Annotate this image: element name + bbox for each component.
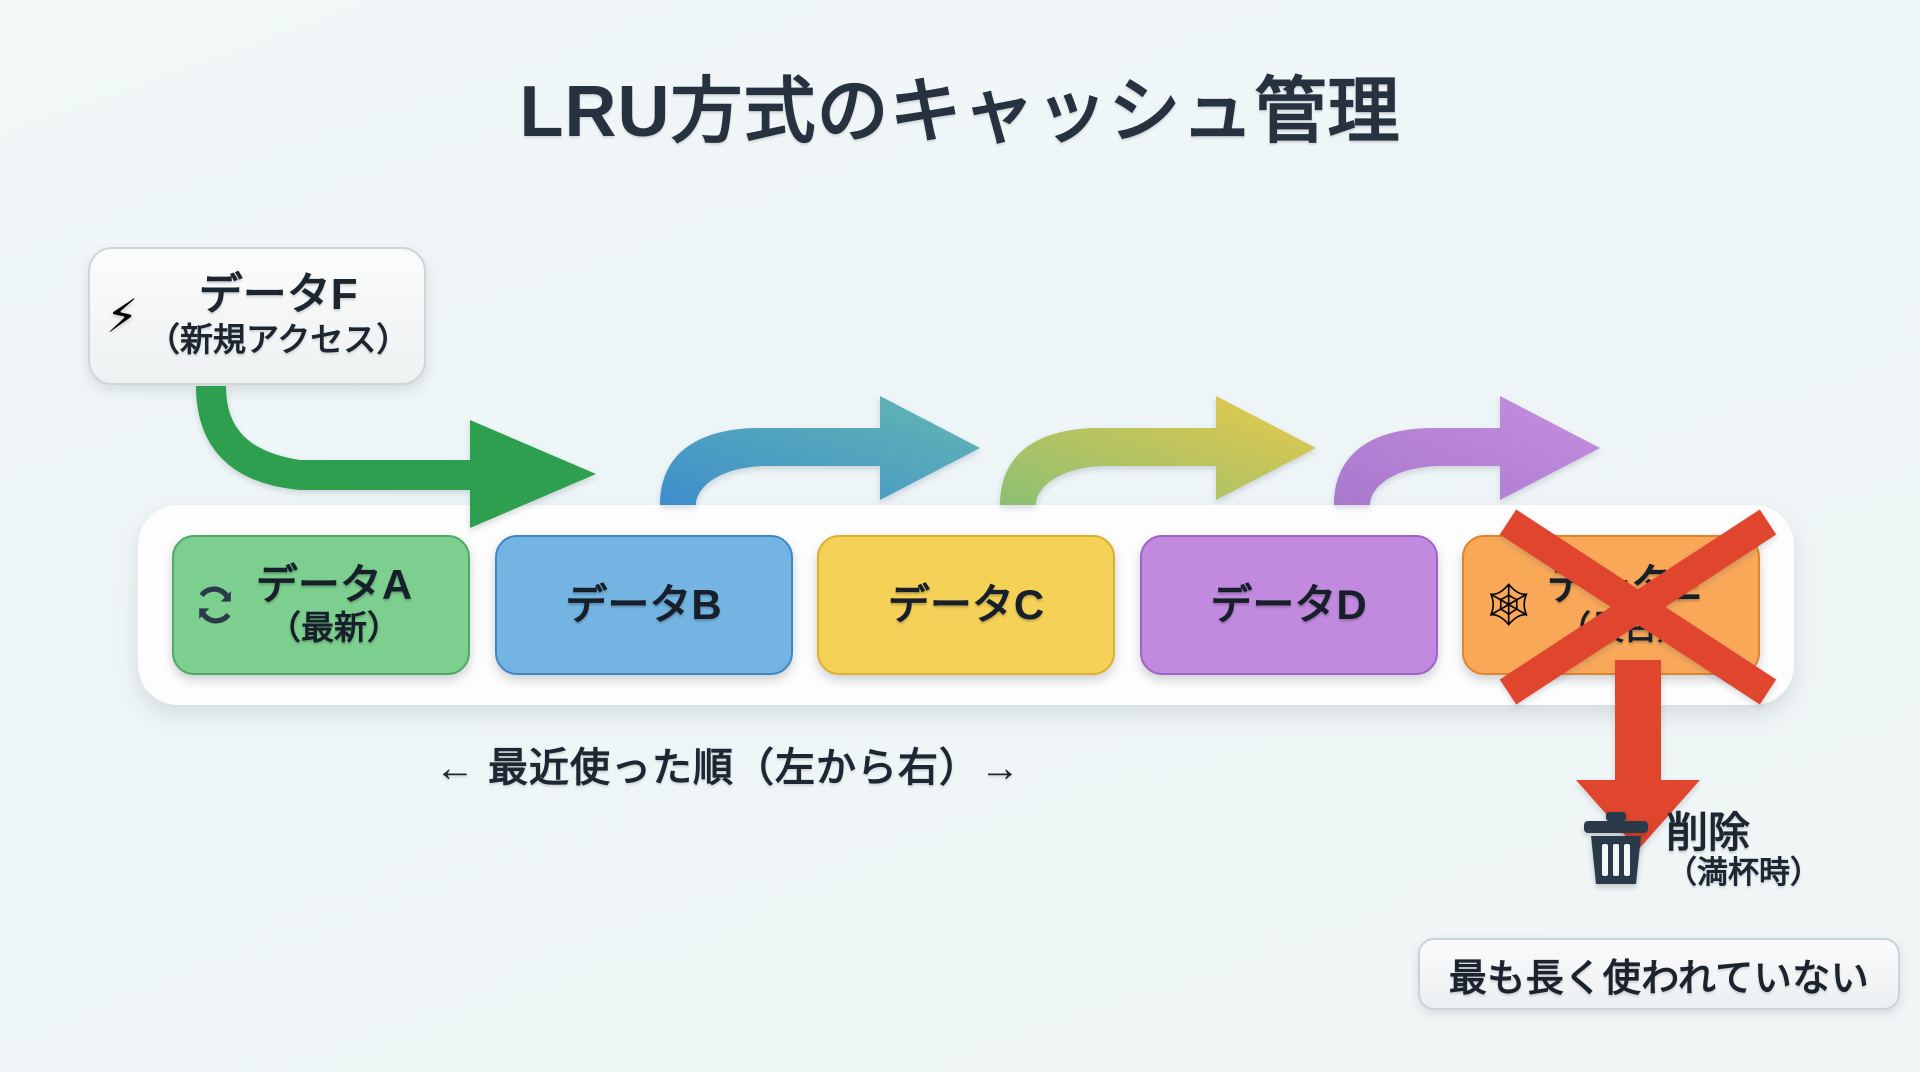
arrow-c-to-d [1334, 396, 1600, 505]
cache-item-d[interactable]: データD [1140, 535, 1438, 675]
refresh-cycle-icon [192, 582, 238, 628]
cache-item-a-sublabel: （最新） [256, 609, 412, 647]
delete-group: 削除 （満杯時） [1580, 808, 1821, 893]
cache-item-b-text: データB [565, 583, 721, 627]
trash-can-icon [1580, 808, 1652, 893]
cache-item-d-text: データD [1210, 583, 1366, 627]
arrow-b-to-c [1000, 396, 1316, 505]
cache-item-c-text: データC [888, 583, 1044, 627]
lru-badge: 最も長く使われていない [1418, 938, 1900, 1010]
delete-sublabel: （満杯時） [1666, 855, 1821, 891]
cache-item-b-label: データB [565, 583, 721, 627]
spider-web-icon: 🕸 [1482, 584, 1535, 626]
cache-item-list: データA （最新） データB データC データD 🕸 データE （最古） [138, 505, 1794, 705]
cache-item-d-label: データD [1210, 583, 1366, 627]
new-access-label: データF [144, 272, 412, 318]
page-title: LRU方式のキャッシュ管理 [0, 52, 1920, 157]
arrow-a-to-b [660, 396, 980, 505]
cache-item-e-text: データE （最古） [1521, 563, 1701, 646]
lightning-bolt-icon: ⚡ [106, 293, 138, 339]
delete-text: 削除 （満杯時） [1666, 811, 1821, 891]
cache-item-c-label: データC [888, 583, 1044, 627]
cache-item-a-text: データA （最新） [230, 563, 412, 646]
new-access-callout: ⚡ データF （新規アクセス） [88, 247, 426, 385]
cache-item-e-sublabel: （最古） [1547, 609, 1701, 647]
delete-label: 削除 [1666, 811, 1821, 855]
diagram-canvas: LRU方式のキャッシュ管理 ⚡ データF （新規アクセス） データA （最新） [0, 0, 1920, 1072]
new-access-sublabel: （新規アクセス） [144, 320, 412, 360]
recency-order-caption: ← 最近使った順（左から右）→ [138, 735, 1318, 793]
new-access-text: データF （新規アクセス） [144, 272, 424, 360]
cache-item-b[interactable]: データB [495, 535, 793, 675]
cache-item-e[interactable]: 🕸 データE （最古） [1462, 535, 1760, 675]
cache-item-e-label: データE [1547, 563, 1701, 607]
cache-item-c[interactable]: データC [817, 535, 1115, 675]
cache-item-a[interactable]: データA （最新） [172, 535, 470, 675]
cache-item-a-label: データA [256, 563, 412, 607]
